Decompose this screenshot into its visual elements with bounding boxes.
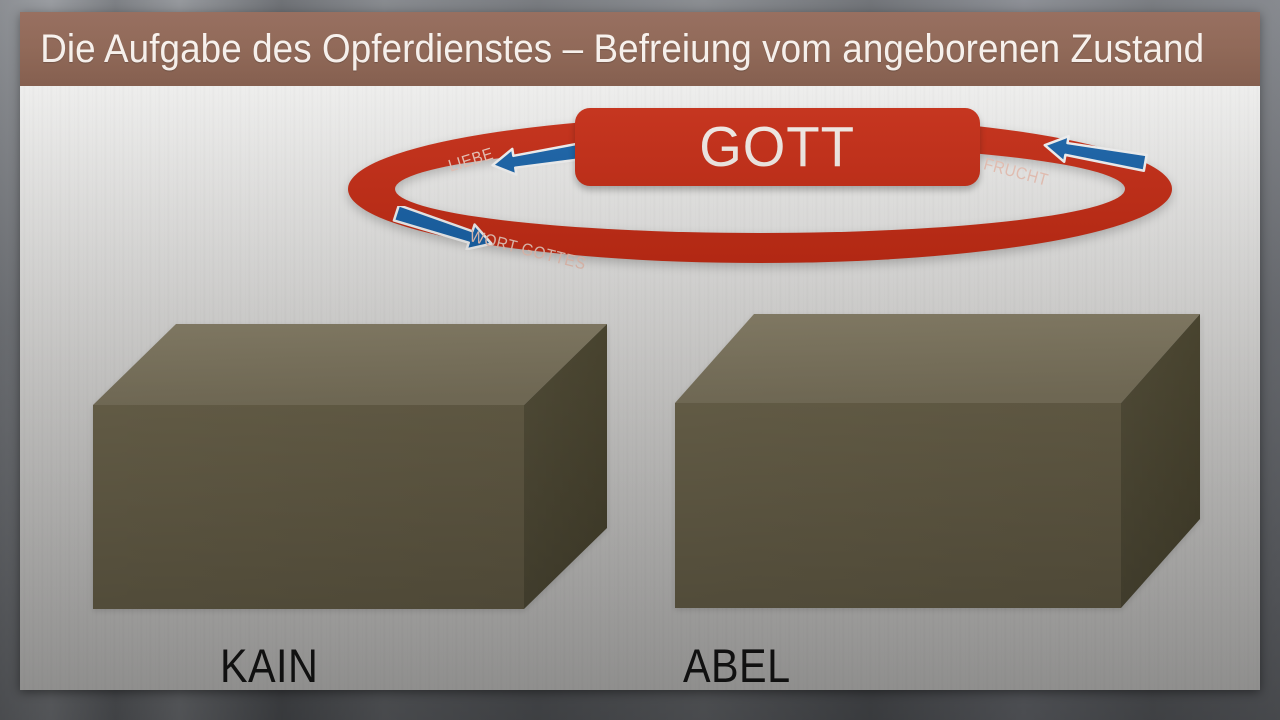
offering-caption-kain: KAIN: [220, 638, 318, 690]
arrow-left-liebe-icon: [488, 138, 588, 178]
diagram-canvas: LIEBE WORT GOTTES FRUCHT GOTT: [20, 86, 1260, 690]
slide-backdrop: Die Aufgabe des Opferdienstes – Befreiun…: [0, 0, 1280, 720]
offering-box-kain[interactable]: [90, 321, 610, 611]
offering-caption-abel: ABEL: [683, 638, 791, 690]
cuboid-icon: [672, 311, 1202, 611]
slide-title-bar: Die Aufgabe des Opferdienstes – Befreiun…: [20, 12, 1260, 86]
gott-node-label: GOTT: [700, 114, 856, 180]
slide-surface: Die Aufgabe des Opferdienstes – Befreiun…: [20, 12, 1260, 690]
cuboid-icon: [90, 321, 610, 611]
gott-node[interactable]: GOTT: [575, 108, 980, 186]
page-title: Die Aufgabe des Opferdienstes – Befreiun…: [20, 27, 1204, 72]
arrow-left-frucht-icon: [1040, 132, 1150, 176]
offering-box-abel[interactable]: [672, 311, 1202, 611]
